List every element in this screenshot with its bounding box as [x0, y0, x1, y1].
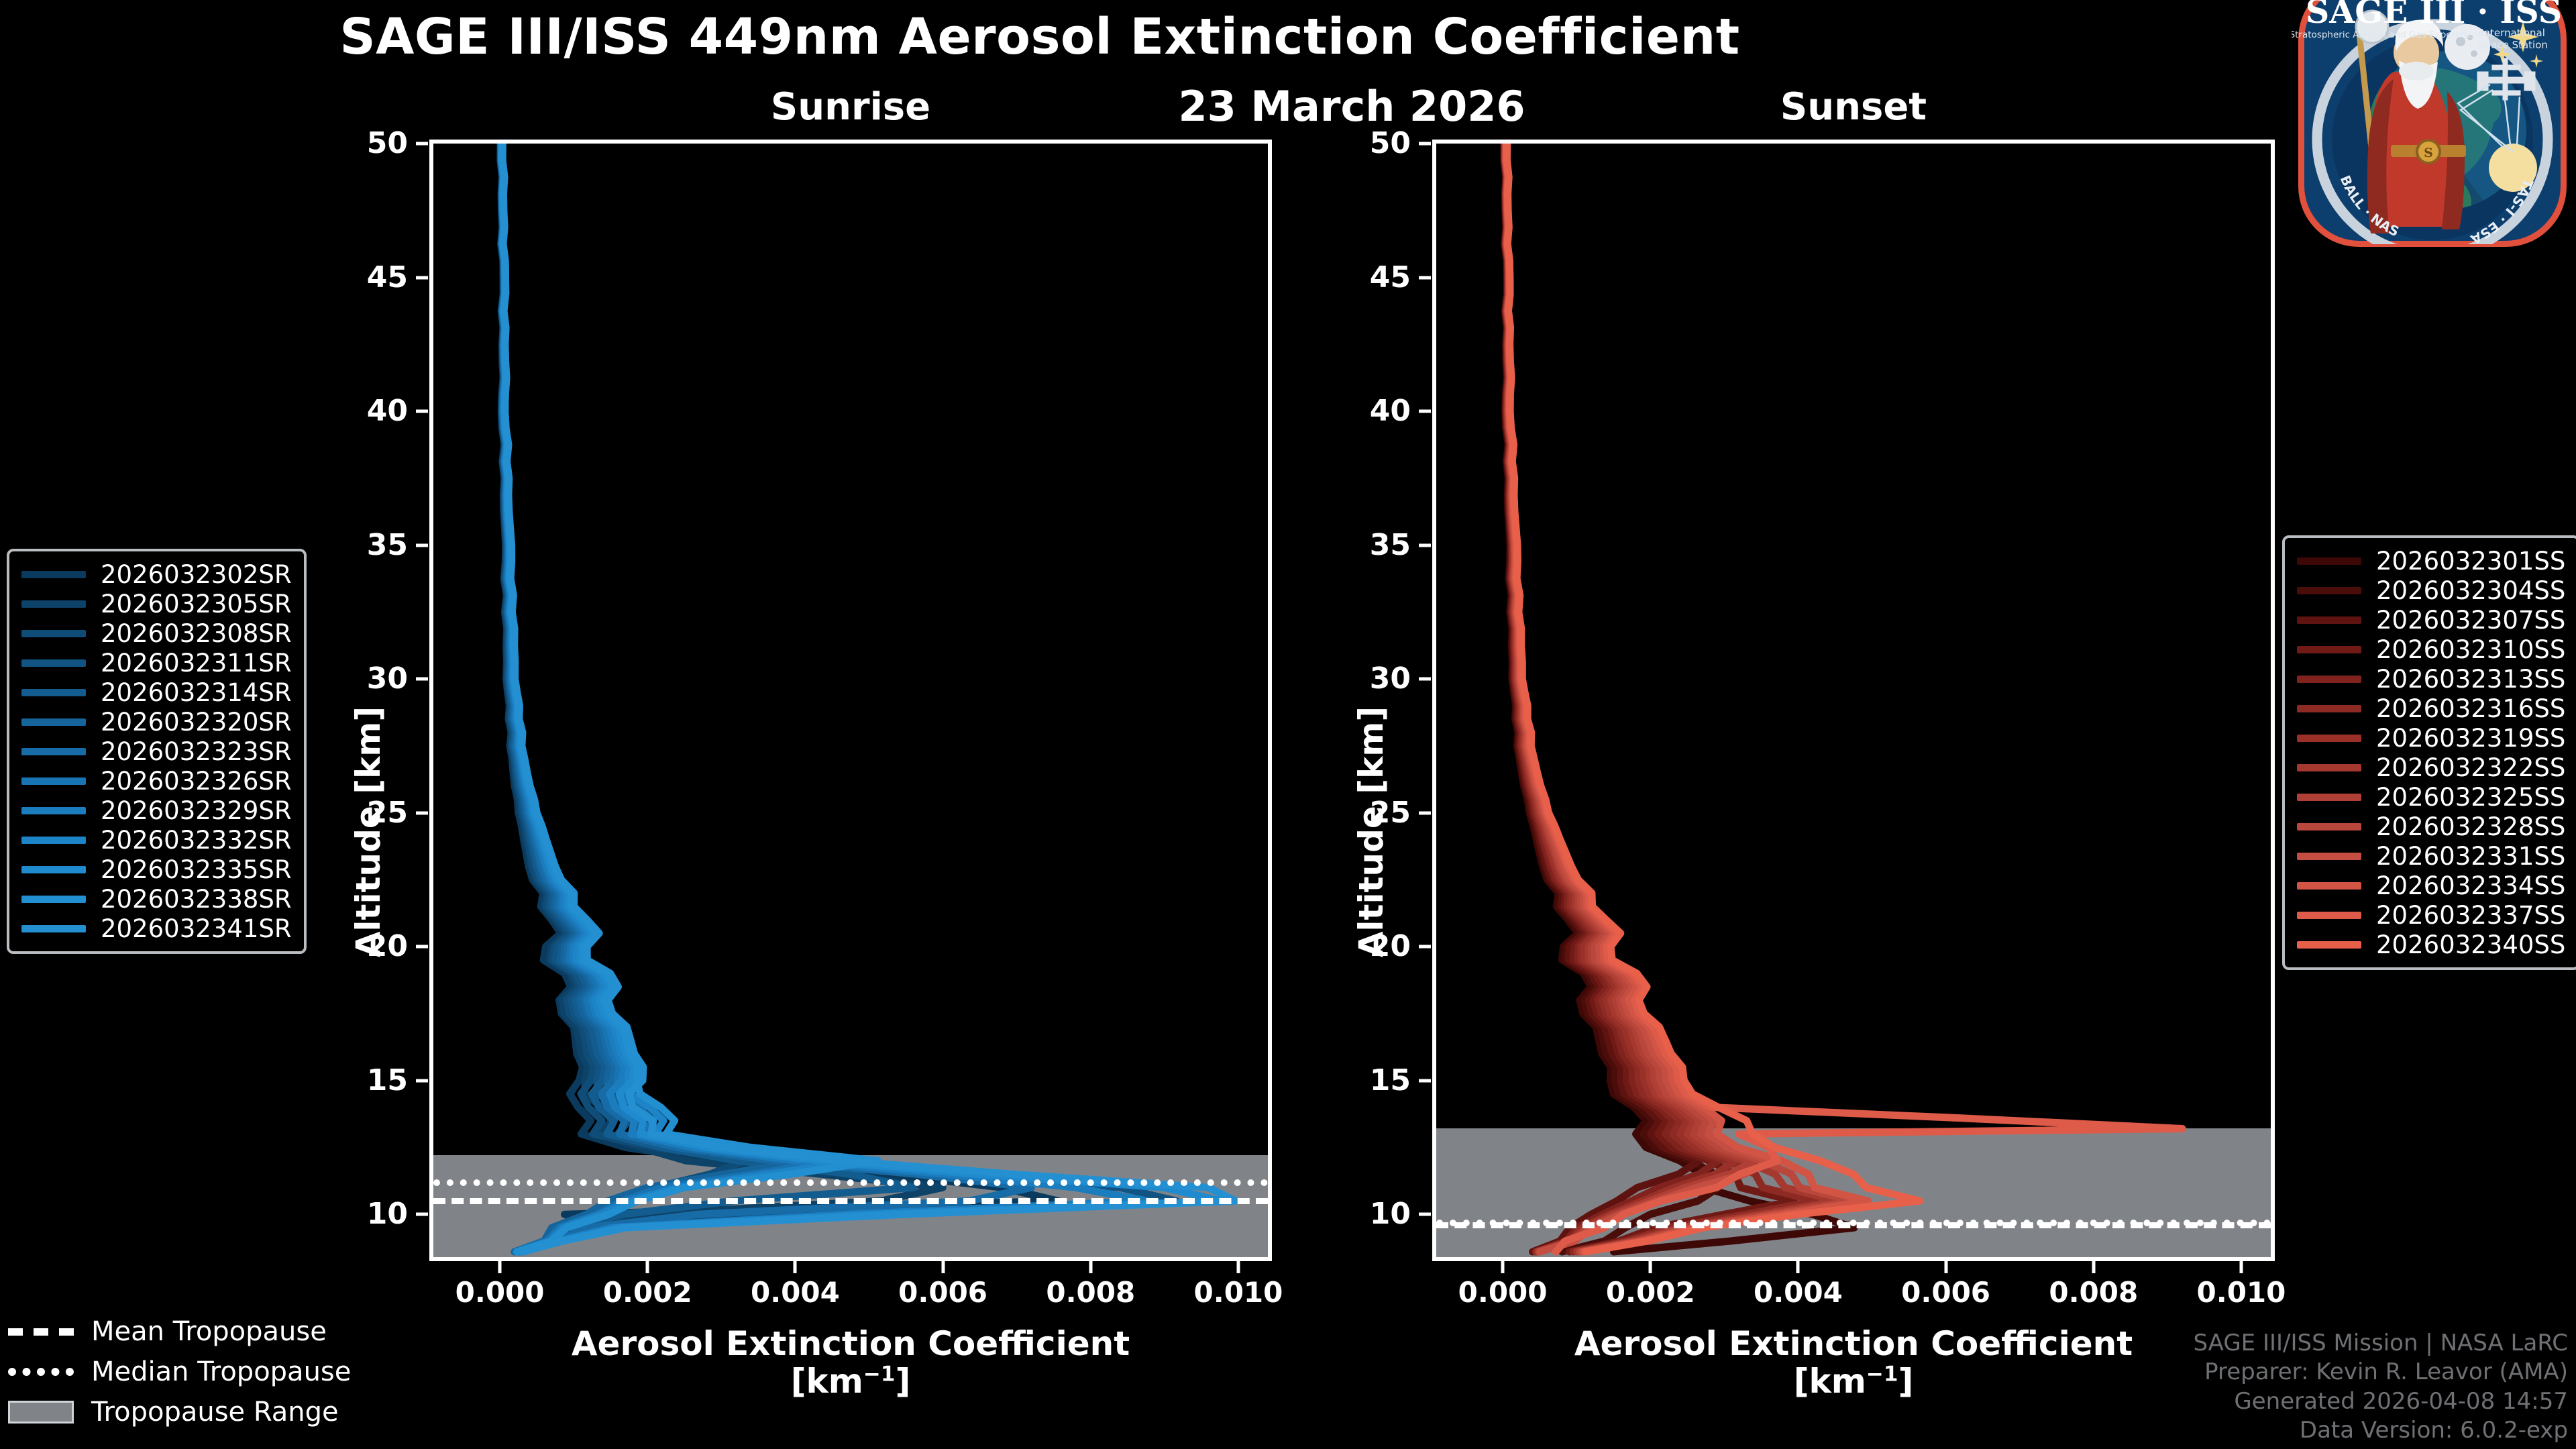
y-tick-label: 15: [335, 1066, 408, 1095]
mean-tropopause-line: [1436, 1222, 2271, 1228]
legend-item[interactable]: 2026032323SR: [21, 737, 292, 766]
x-tick-label: 0.006: [898, 1279, 987, 1307]
x-tick-label: 0.006: [1901, 1279, 1990, 1307]
legend-color-swatch: [21, 807, 86, 814]
legend-color-swatch: [2297, 676, 2361, 683]
x-axis-label-sunrise: Aerosol Extinction Coefficient [km−1]: [429, 1325, 1272, 1400]
series-line: [502, 144, 878, 1252]
y-tick-mark: [416, 543, 428, 547]
x-tick-label: 0.010: [1194, 1279, 1283, 1307]
legend-item[interactable]: 2026032307SS: [2297, 605, 2565, 635]
legend-color-swatch: [21, 866, 86, 873]
legend-label: 2026032313SS: [2376, 667, 2565, 692]
y-tick-mark: [416, 811, 428, 814]
x-axis-unit: [km−1]: [429, 1362, 1272, 1400]
y-tick-label: 30: [1338, 664, 1411, 694]
legend-label: 2026032322SS: [2376, 755, 2565, 780]
y-tick-mark: [416, 678, 428, 681]
legend-item[interactable]: 2026032320SR: [21, 707, 292, 737]
y-tick-mark: [1419, 1213, 1431, 1216]
y-tick-mark: [1419, 276, 1431, 279]
y-tick-mark: [1419, 142, 1431, 146]
x-tick-mark: [1089, 1261, 1092, 1273]
legend-color-swatch: [2297, 764, 2361, 771]
legend-label: 2026032320SR: [101, 710, 292, 735]
legend-item[interactable]: 2026032335SR: [21, 855, 292, 884]
legend-label: 2026032305SR: [101, 592, 292, 616]
series-line: [501, 144, 834, 1252]
y-axis-label-sunset: Altitude [km]: [1352, 706, 1391, 958]
legend-item[interactable]: 2026032337SS: [2297, 900, 2565, 930]
legend-item[interactable]: 2026032308SR: [21, 619, 292, 648]
legend-color-swatch: [2297, 587, 2361, 594]
x-tick-label: 0.002: [1606, 1279, 1695, 1307]
legend-color-swatch: [21, 777, 86, 785]
legend-label: 2026032310SS: [2376, 637, 2565, 662]
legend-label: 2026032311SR: [101, 651, 292, 676]
series-lines: [1436, 144, 2271, 1257]
legend-item[interactable]: 2026032314SR: [21, 678, 292, 707]
legend-item[interactable]: 2026032332SR: [21, 825, 292, 855]
credits-block: SAGE III/ISS Mission | NASA LaRC Prepare…: [2193, 1329, 2568, 1445]
patch-subtitle-right-1: International: [2481, 27, 2545, 39]
legend-item[interactable]: 2026032302SR: [21, 559, 292, 589]
y-tick-mark: [1419, 410, 1431, 413]
y-tick-mark: [1419, 945, 1431, 949]
y-tick-label: 50: [1338, 129, 1411, 158]
legend-color-swatch: [21, 718, 86, 726]
legend-tropopause: Mean Tropopause Median Tropopause Tropop…: [8, 1311, 351, 1432]
legend-item[interactable]: 2026032329SR: [21, 796, 292, 825]
panel-title-sunset: Sunset: [1432, 89, 2275, 126]
legend-label: 2026032316SS: [2376, 696, 2565, 721]
panel-title-sunrise: Sunrise: [429, 89, 1272, 126]
y-tick-mark: [416, 1079, 428, 1082]
x-tick-mark: [1944, 1261, 1947, 1273]
legend-item[interactable]: 2026032304SS: [2297, 576, 2565, 605]
x-tick-mark: [2239, 1261, 2243, 1273]
legend-item-median-tropopause: Median Tropopause: [8, 1352, 351, 1392]
x-tick-label: 0.004: [1754, 1279, 1843, 1307]
x-tick-label: 0.000: [455, 1279, 545, 1307]
median-tropopause-line: [433, 1179, 1268, 1186]
legend-color-swatch: [2297, 941, 2361, 949]
x-tick-mark: [2092, 1261, 2095, 1273]
legend-item[interactable]: 2026032325SS: [2297, 782, 2565, 812]
legend-sunset[interactable]: 2026032301SS2026032304SS2026032307SS2026…: [2282, 535, 2576, 970]
legend-item[interactable]: 2026032322SS: [2297, 753, 2565, 782]
legend-item[interactable]: 2026032316SS: [2297, 694, 2565, 723]
dotted-line-icon: [8, 1368, 74, 1376]
dashed-line-icon: [8, 1328, 74, 1336]
y-tick-label: 40: [335, 396, 408, 426]
legend-label: 2026032335SR: [101, 857, 292, 882]
y-tick-mark: [416, 142, 428, 146]
legend-item[interactable]: 2026032331SS: [2297, 841, 2565, 871]
patch-subtitle-right-2: Space Station: [2478, 39, 2548, 51]
credits-line-generated: Generated 2026-04-08 14:57: [2193, 1387, 2568, 1416]
legend-color-swatch: [21, 748, 86, 755]
legend-item-mean-tropopause: Mean Tropopause: [8, 1311, 351, 1352]
page-title: SAGE III/ISS 449nm Aerosol Extinction Co…: [0, 12, 2080, 62]
legend-color-swatch: [2297, 646, 2361, 653]
legend-label: 2026032314SR: [101, 680, 292, 705]
legend-label: 2026032328SS: [2376, 814, 2565, 839]
y-tick-mark: [416, 945, 428, 949]
x-tick-mark: [1236, 1261, 1240, 1273]
x-tick-label: 0.008: [2049, 1279, 2138, 1307]
legend-label: 2026032337SS: [2376, 903, 2565, 928]
credits-line-version: Data Version: 6.0.2-exp: [2193, 1416, 2568, 1445]
y-tick-label: 50: [335, 129, 408, 158]
legend-label-median-tropopause: Median Tropopause: [91, 1358, 351, 1385]
x-tick-label: 0.004: [751, 1279, 840, 1307]
y-tick-mark: [416, 276, 428, 279]
legend-color-swatch: [2297, 853, 2361, 860]
series-lines: [433, 144, 1268, 1257]
x-tick-mark: [941, 1261, 945, 1273]
legend-label-tropopause-range: Tropopause Range: [91, 1399, 339, 1426]
legend-color-swatch: [21, 571, 86, 578]
x-tick-label: 0.002: [603, 1279, 692, 1307]
credits-line-mission: SAGE III/ISS Mission | NASA LaRC: [2193, 1329, 2568, 1358]
legend-item[interactable]: 2026032338SR: [21, 884, 292, 914]
legend-color-swatch: [2297, 705, 2361, 712]
x-tick-mark: [646, 1261, 649, 1273]
svg-text:S: S: [2424, 146, 2433, 160]
series-line: [501, 144, 913, 1252]
y-tick-label: 35: [1338, 531, 1411, 560]
x-tick-label: 0.008: [1046, 1279, 1135, 1307]
legend-item[interactable]: 2026032328SS: [2297, 812, 2565, 841]
plot-area-sunset: [1432, 140, 2275, 1261]
legend-color-swatch: [21, 659, 86, 667]
series-line: [500, 144, 943, 1252]
legend-color-swatch: [21, 689, 86, 696]
x-tick-mark: [794, 1261, 797, 1273]
legend-item[interactable]: 2026032310SS: [2297, 635, 2565, 664]
y-tick-label: 45: [1338, 263, 1411, 292]
legend-item[interactable]: 2026032341SR: [21, 914, 292, 943]
legend-color-swatch: [2297, 616, 2361, 624]
legend-item[interactable]: 2026032305SR: [21, 589, 292, 619]
legend-item[interactable]: 2026032340SS: [2297, 930, 2565, 959]
x-tick-label: 0.000: [1458, 1279, 1548, 1307]
legend-color-swatch: [2297, 557, 2361, 565]
y-tick-label: 35: [335, 531, 408, 560]
x-axis-label-sunset: Aerosol Extinction Coefficient [km−1]: [1432, 1325, 2275, 1400]
legend-color-swatch: [21, 630, 86, 637]
legend-label: 2026032329SR: [101, 798, 292, 823]
legend-label: 2026032307SS: [2376, 608, 2565, 633]
series-line: [501, 144, 804, 1252]
legend-label: 2026032340SS: [2376, 932, 2565, 957]
legend-color-swatch: [2297, 735, 2361, 742]
legend-color-swatch: [21, 925, 86, 932]
legend-label: 2026032332SR: [101, 828, 292, 853]
legend-label: 2026032325SS: [2376, 785, 2565, 810]
x-axis-unit: [km−1]: [1432, 1362, 2275, 1400]
legend-label: 2026032331SS: [2376, 844, 2565, 869]
legend-label-mean-tropopause: Mean Tropopause: [91, 1318, 327, 1345]
legend-color-swatch: [21, 600, 86, 608]
y-axis-label-sunrise: Altitude [km]: [349, 706, 388, 958]
legend-sunrise[interactable]: 2026032302SR2026032305SR2026032308SR2026…: [7, 549, 307, 954]
y-tick-mark: [1419, 678, 1431, 681]
y-tick-mark: [1419, 1079, 1431, 1082]
legend-color-swatch: [21, 896, 86, 903]
legend-label: 2026032334SS: [2376, 873, 2565, 898]
series-line: [1507, 144, 1919, 1252]
series-line: [502, 144, 856, 1252]
plot-area-sunrise: [429, 140, 1272, 1261]
legend-item[interactable]: 2026032311SR: [21, 648, 292, 678]
filled-band-icon: [8, 1401, 74, 1424]
legend-color-swatch: [21, 837, 86, 844]
x-tick-mark: [498, 1261, 502, 1273]
x-axis-label-text: Aerosol Extinction Coefficient: [1574, 1324, 2133, 1363]
legend-color-swatch: [2297, 823, 2361, 830]
legend-item[interactable]: 2026032326SR: [21, 766, 292, 796]
patch-subtitle-left: Stratospheric Aerosol and Gas Experiment…: [2292, 30, 2492, 40]
legend-item[interactable]: 2026032313SS: [2297, 664, 2565, 694]
x-tick-mark: [1796, 1261, 1800, 1273]
x-tick-mark: [1501, 1261, 1505, 1273]
sage-iii-iss-mission-patch-logo: S BALL · NASA TAS-I · ESA SAGE III · ISS…: [2292, 0, 2573, 254]
legend-item[interactable]: 2026032301SS: [2297, 546, 2565, 576]
x-tick-label: 0.010: [2197, 1279, 2286, 1307]
y-tick-label: 10: [1338, 1199, 1411, 1229]
legend-label: 2026032341SR: [101, 916, 292, 941]
mean-tropopause-line: [433, 1198, 1268, 1204]
credits-line-preparer: Preparer: Kevin R. Leavor (AMA): [2193, 1358, 2568, 1387]
legend-item[interactable]: 2026032319SS: [2297, 723, 2565, 753]
legend-label: 2026032319SS: [2376, 726, 2565, 751]
legend-color-swatch: [2297, 794, 2361, 801]
y-tick-label: 30: [335, 664, 408, 694]
y-tick-label: 40: [1338, 396, 1411, 426]
y-tick-mark: [1419, 543, 1431, 547]
y-tick-mark: [416, 410, 428, 413]
legend-label: 2026032301SS: [2376, 549, 2565, 574]
legend-label: 2026032308SR: [101, 621, 292, 646]
legend-label: 2026032338SR: [101, 887, 292, 912]
legend-item[interactable]: 2026032334SS: [2297, 871, 2565, 900]
x-axis-label-text: Aerosol Extinction Coefficient: [572, 1324, 1130, 1363]
y-tick-label: 45: [335, 263, 408, 292]
y-tick-mark: [1419, 811, 1431, 814]
legend-label: 2026032302SR: [101, 562, 292, 587]
legend-color-swatch: [2297, 912, 2361, 919]
y-tick-mark: [416, 1213, 428, 1216]
y-tick-label: 15: [1338, 1066, 1411, 1095]
series-line: [501, 144, 1031, 1252]
legend-label: 2026032326SR: [101, 769, 292, 794]
legend-color-swatch: [2297, 882, 2361, 890]
legend-label: 2026032304SS: [2376, 578, 2565, 603]
x-tick-mark: [1649, 1261, 1652, 1273]
y-tick-label: 10: [335, 1199, 408, 1229]
legend-label: 2026032323SR: [101, 739, 292, 764]
legend-item-tropopause-range: Tropopause Range: [8, 1392, 351, 1432]
